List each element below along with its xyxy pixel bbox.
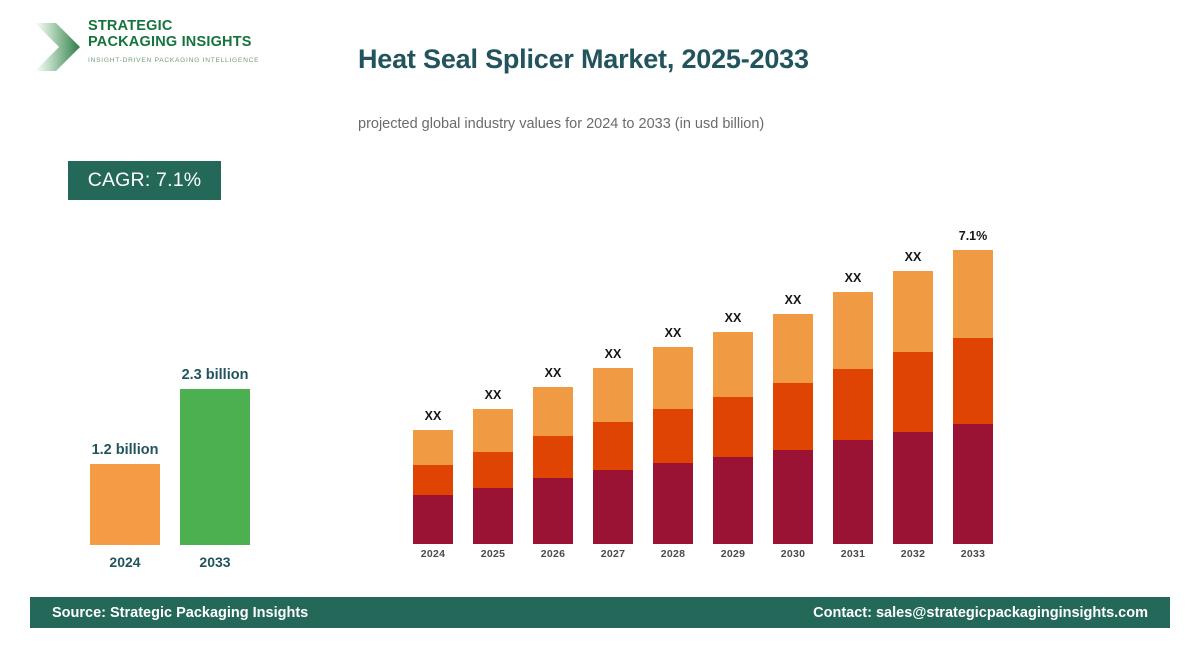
- stacked-segment-top: [833, 292, 873, 368]
- stacked-bar: [953, 250, 993, 544]
- cagr-badge-label: CAGR: 7.1%: [88, 169, 202, 192]
- comparison-column: 1.2 billion2024: [80, 442, 170, 570]
- stacked-year-label: 2030: [765, 548, 821, 560]
- stacked-column: XX2029: [705, 311, 761, 560]
- stacked-segment-middle: [533, 436, 573, 479]
- comparison-chart: 1.2 billion20242.3 billion2033: [50, 300, 300, 570]
- stacked-top-label: XX: [585, 347, 641, 361]
- stacked-column: 7.1%2033: [945, 229, 1001, 560]
- comparison-year-label: 2024: [80, 554, 170, 570]
- stacked-bar: [713, 332, 753, 544]
- stacked-year-label: 2028: [645, 548, 701, 560]
- stacked-bar-chart: XX2024XX2025XX2026XX2027XX2028XX2029XX20…: [405, 200, 1015, 560]
- cagr-badge: CAGR: 7.1%: [68, 161, 221, 200]
- comparison-value-label: 1.2 billion: [80, 442, 170, 458]
- comparison-year-label: 2033: [170, 554, 260, 570]
- stacked-top-label: XX: [825, 271, 881, 285]
- stacked-top-label: XX: [885, 250, 941, 264]
- footer-source: Source: Strategic Packaging Insights: [52, 605, 308, 621]
- chevron-logo-icon: [32, 19, 84, 75]
- stacked-segment-bottom: [533, 478, 573, 544]
- stacked-year-label: 2032: [885, 548, 941, 560]
- stacked-segment-middle: [713, 397, 753, 457]
- stacked-segment-top: [473, 409, 513, 452]
- brand-line-1: STRATEGIC: [88, 19, 263, 35]
- stacked-segment-top: [893, 271, 933, 352]
- stacked-segment-bottom: [833, 440, 873, 544]
- stacked-column: XX2028: [645, 326, 701, 560]
- stacked-segment-top: [533, 387, 573, 436]
- stacked-segment-top: [773, 314, 813, 383]
- stacked-year-label: 2027: [585, 548, 641, 560]
- brand-wordmark: STRATEGIC PACKAGING INSIGHTS INSIGHT-DRI…: [88, 19, 263, 64]
- stacked-segment-middle: [953, 338, 993, 424]
- stacked-segment-middle: [473, 452, 513, 488]
- stacked-segment-bottom: [413, 495, 453, 544]
- stacked-year-label: 2029: [705, 548, 761, 560]
- stacked-segment-middle: [833, 369, 873, 441]
- stacked-column: XX2024: [405, 409, 461, 560]
- stacked-segment-middle: [893, 352, 933, 432]
- stacked-year-label: 2024: [405, 548, 461, 560]
- stacked-segment-top: [653, 347, 693, 409]
- footer-bar: Source: Strategic Packaging Insights Con…: [30, 597, 1170, 628]
- stacked-top-label: 7.1%: [945, 229, 1001, 243]
- stacked-bar: [653, 347, 693, 544]
- brand-logo: STRATEGIC PACKAGING INSIGHTS INSIGHT-DRI…: [32, 16, 262, 78]
- stacked-bar: [413, 430, 453, 544]
- footer-contact: Contact: sales@strategicpackaginginsight…: [813, 605, 1148, 621]
- stacked-top-label: XX: [525, 366, 581, 380]
- stacked-segment-bottom: [773, 450, 813, 544]
- stacked-segment-top: [413, 430, 453, 466]
- stacked-year-label: 2031: [825, 548, 881, 560]
- stacked-column: XX2027: [585, 347, 641, 560]
- stacked-top-label: XX: [465, 388, 521, 402]
- stacked-column: XX2032: [885, 250, 941, 560]
- stacked-segment-top: [953, 250, 993, 338]
- stacked-top-label: XX: [645, 326, 701, 340]
- stacked-bar: [533, 387, 573, 544]
- stacked-bar: [773, 314, 813, 544]
- stacked-column: XX2030: [765, 293, 821, 560]
- stacked-segment-bottom: [653, 463, 693, 544]
- stacked-year-label: 2026: [525, 548, 581, 560]
- stacked-segment-middle: [593, 422, 633, 470]
- brand-tagline: INSIGHT-DRIVEN PACKAGING INTELLIGENCE: [88, 57, 263, 64]
- comparison-bar: [90, 464, 160, 545]
- page-title: Heat Seal Splicer Market, 2025-2033: [358, 44, 809, 75]
- stacked-segment-bottom: [953, 424, 993, 544]
- stacked-column: XX2031: [825, 271, 881, 560]
- stacked-bar: [893, 271, 933, 544]
- stacked-segment-bottom: [893, 432, 933, 544]
- stacked-segment-middle: [413, 465, 453, 495]
- page-subtitle: projected global industry values for 202…: [358, 116, 764, 132]
- stacked-segment-top: [713, 332, 753, 398]
- stacked-year-label: 2025: [465, 548, 521, 560]
- stacked-bar: [593, 368, 633, 544]
- stacked-top-label: XX: [765, 293, 821, 307]
- stacked-segment-bottom: [593, 470, 633, 544]
- stacked-segment-middle: [773, 383, 813, 450]
- stacked-top-label: XX: [405, 409, 461, 423]
- stacked-segment-bottom: [473, 488, 513, 544]
- brand-line-2: PACKAGING INSIGHTS: [88, 35, 263, 51]
- stacked-bar: [833, 292, 873, 544]
- stacked-bar: [473, 409, 513, 544]
- stacked-top-label: XX: [705, 311, 761, 325]
- stacked-segment-bottom: [713, 457, 753, 544]
- stacked-column: XX2025: [465, 388, 521, 560]
- stacked-segment-middle: [653, 409, 693, 463]
- comparison-bar: [180, 389, 250, 545]
- stacked-year-label: 2033: [945, 548, 1001, 560]
- stacked-column: XX2026: [525, 366, 581, 560]
- stacked-segment-top: [593, 368, 633, 423]
- comparison-column: 2.3 billion2033: [170, 367, 260, 570]
- comparison-value-label: 2.3 billion: [170, 367, 260, 383]
